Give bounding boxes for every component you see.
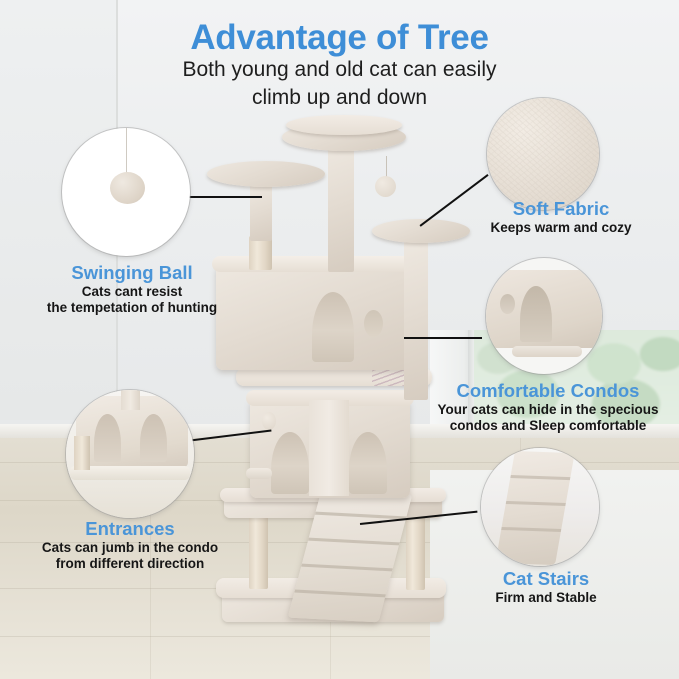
top-perch-rim (286, 115, 402, 135)
fabric-texture (487, 98, 599, 210)
feature-body-line1: Keeps warm and cozy (450, 220, 672, 236)
feature-label-soft-fabric: Soft Fabric Keeps warm and cozy (450, 198, 672, 236)
feature-body-line2: condos and Sleep comfortable (420, 418, 676, 434)
page-subtitle-line1: Both young and old cat can easily (0, 58, 679, 82)
feature-body-line2: from different direction (18, 556, 242, 572)
right-post (404, 240, 428, 400)
feature-body-line1: Your cats can hide in the specious (420, 402, 676, 418)
lower-condo-side-ledge (246, 468, 272, 479)
feature-heading: Entrances (18, 518, 242, 540)
callout-condo-shelf (512, 346, 582, 357)
callout-pom-pom-ball (110, 172, 145, 204)
callout-cat-stairs (481, 448, 599, 566)
feature-label-comfortable-condos: Comfortable Condos Your cats can hide in… (420, 380, 676, 434)
hanging-ball (375, 176, 396, 197)
feature-body-line2: the tempetation of hunting (18, 300, 246, 316)
callout-ball-string (126, 128, 127, 174)
feature-label-entrances: Entrances Cats can jumb in the condo fro… (18, 518, 242, 572)
callout-entrances (66, 390, 194, 518)
feature-heading: Soft Fabric (450, 198, 672, 220)
callout-swinging-ball (62, 128, 190, 256)
left-perch (207, 161, 325, 187)
feature-body-line1: Firm and Stable (448, 590, 644, 606)
feature-heading: Cat Stairs (448, 568, 644, 590)
lower-condo-hanging-ball (262, 412, 276, 430)
feature-body-line1: Cats cant resist (18, 284, 246, 300)
callout-condo-window (500, 294, 515, 314)
callout-comfortable-condos (486, 258, 602, 374)
lower-post-left (249, 515, 268, 589)
callout-entrances-post (121, 390, 140, 410)
connector-comfortable-condos (404, 337, 482, 339)
infographic-canvas: Advantage of Tree Both young and old cat… (0, 0, 679, 679)
left-sisal-post (249, 236, 272, 270)
feature-label-swinging-ball: Swinging Ball Cats cant resist the tempe… (18, 262, 246, 316)
left-post (250, 185, 272, 241)
center-post (328, 144, 354, 272)
feature-body-line1: Cats can jumb in the condo (18, 540, 242, 556)
page-subtitle-line2: climb up and down (0, 86, 679, 110)
feature-label-cat-stairs: Cat Stairs Firm and Stable (448, 568, 644, 606)
connector-swinging-ball (188, 196, 262, 198)
feature-heading: Swinging Ball (18, 262, 246, 284)
lower-condo-center-pillar (309, 400, 349, 496)
hanging-ball-string (386, 156, 387, 178)
callout-entrances-sisal (74, 436, 90, 470)
callout-soft-fabric (487, 98, 599, 210)
upper-condo-window (364, 310, 383, 337)
page-title: Advantage of Tree (0, 18, 679, 58)
feature-heading: Comfortable Condos (420, 380, 676, 402)
